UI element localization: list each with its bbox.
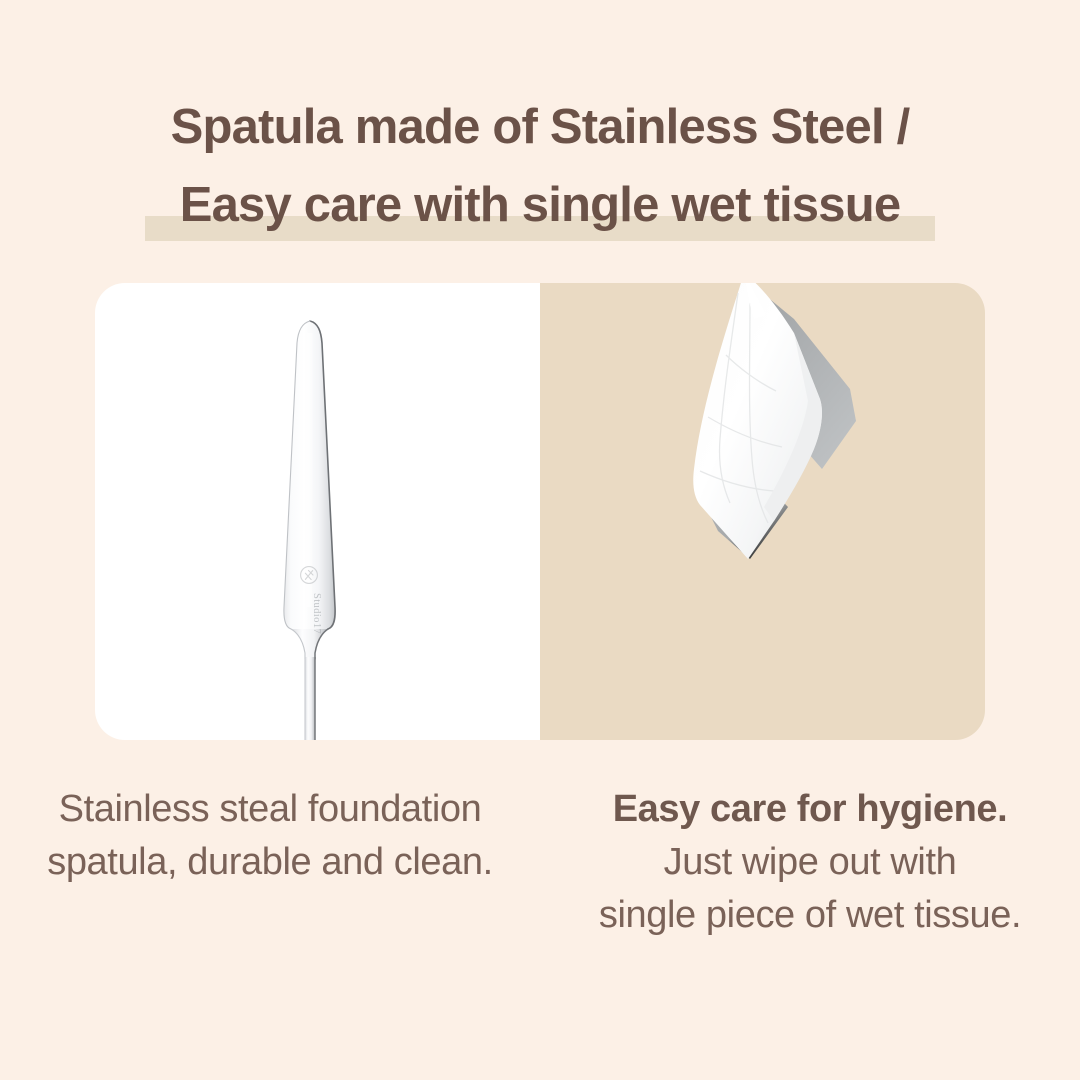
caption-wet-tissue-heading: Easy care for hygiene.	[540, 783, 1080, 836]
caption-spatula-line-2: spatula, durable and clean.	[0, 836, 540, 889]
page-title-line-2-text: Easy care with single wet tissue	[180, 178, 901, 232]
page-title-line-1-text: Spatula made of Stainless Steel /	[171, 100, 910, 154]
page-title: Spatula made of Stainless Steel / Easy c…	[0, 88, 1080, 244]
page-title-line-1: Spatula made of Stainless Steel /	[0, 88, 1080, 166]
caption-wet-tissue: Easy care for hygiene. Just wipe out wit…	[540, 783, 1080, 942]
panel-wet-tissue	[540, 283, 985, 740]
caption-wet-tissue-line-1: Just wipe out with	[540, 836, 1080, 889]
wet-tissue-image	[598, 283, 928, 719]
spatula-brand-engraving: Studio17	[311, 593, 322, 634]
spatula-handle	[305, 657, 315, 740]
tissue-front-face	[693, 283, 822, 559]
spatula-image: Studio17	[258, 307, 378, 740]
caption-row: Stainless steal foundation spatula, dura…	[0, 783, 1080, 942]
product-image-panels: Studio17	[95, 283, 985, 740]
caption-spatula-line-1: Stainless steal foundation	[0, 783, 540, 836]
panel-spatula: Studio17	[95, 283, 540, 740]
caption-wet-tissue-line-2: single piece of wet tissue.	[540, 889, 1080, 942]
caption-spatula: Stainless steal foundation spatula, dura…	[0, 783, 540, 942]
